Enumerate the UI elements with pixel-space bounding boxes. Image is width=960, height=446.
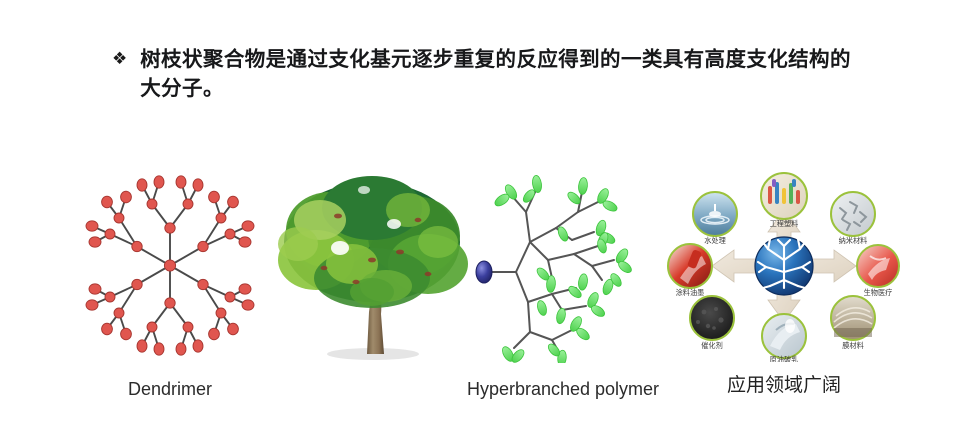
dendrimer-svg xyxy=(80,168,260,363)
center-dendrimer-sphere xyxy=(755,237,813,295)
app-label-biomedical: 生物医疗 xyxy=(864,288,893,297)
figure-row: Dendrimer xyxy=(0,168,960,428)
applications-artwork: 工程塑料 纳米材料 生物医疗 膜材料 原油破乳 催化剂 涂料油墨 水处理 xyxy=(664,170,904,362)
caption-dendrimer: Dendrimer xyxy=(80,379,260,400)
app-label-nano-materials: 纳米材料 xyxy=(839,236,868,245)
hyperbranched-artwork xyxy=(452,168,674,363)
dendrimer-core-node xyxy=(164,260,175,271)
app-item-nano-materials[interactable] xyxy=(831,192,875,236)
hyperbranched-bonds xyxy=(492,190,614,354)
app-item-engineering-plastics[interactable] xyxy=(761,173,807,219)
figure-hyperbranched: Hyperbranched polymer xyxy=(452,168,674,400)
app-item-biomedical[interactable] xyxy=(857,245,899,287)
caption-applications: 应用领域广阔 xyxy=(664,370,904,397)
app-label-catalyst: 催化剂 xyxy=(701,341,723,350)
app-item-catalyst[interactable] xyxy=(690,296,734,340)
figure-applications: 工程塑料 纳米材料 生物医疗 膜材料 原油破乳 催化剂 涂料油墨 水处理 应用领… xyxy=(664,170,904,397)
heading-text: 树枝状聚合物是通过支化基元逐步重复的反应得到的一类具有高度支化结构的大分子。 xyxy=(140,45,852,103)
applications-svg: 工程塑料 纳米材料 生物医疗 膜材料 原油破乳 催化剂 涂料油墨 水处理 xyxy=(664,170,904,362)
slide-canvas: ❖ 树枝状聚合物是通过支化基元逐步重复的反应得到的一类具有高度支化结构的大分子。 xyxy=(0,0,960,446)
tree-canopy xyxy=(278,176,468,308)
tree-svg xyxy=(268,164,483,369)
hyperbranched-core xyxy=(476,261,492,283)
app-item-membrane-materials[interactable] xyxy=(831,296,875,340)
app-item-crude-oil-demulsification[interactable] xyxy=(762,314,806,358)
tree-artwork xyxy=(268,164,483,369)
dendrimer-artwork xyxy=(80,168,260,363)
heading-bullet-block: ❖ 树枝状聚合物是通过支化基元逐步重复的反应得到的一类具有高度支化结构的大分子。 xyxy=(112,45,852,103)
app-label-membrane-materials: 膜材料 xyxy=(842,341,864,350)
figure-tree xyxy=(268,164,483,369)
app-label-coatings-inks: 涂料油墨 xyxy=(676,288,705,297)
diamond-bullet-icon: ❖ xyxy=(112,45,127,74)
app-item-water-treatment[interactable] xyxy=(693,192,737,236)
hyperbranched-svg xyxy=(452,168,674,363)
app-label-water-treatment: 水处理 xyxy=(704,236,726,245)
app-label-engineering-plastics: 工程塑料 xyxy=(770,219,799,228)
caption-hyperbranched: Hyperbranched polymer xyxy=(452,379,674,400)
app-label-crude-oil: 原油破乳 xyxy=(770,355,799,362)
app-item-coatings-inks[interactable] xyxy=(668,244,712,288)
figure-dendrimer: Dendrimer xyxy=(80,168,260,400)
